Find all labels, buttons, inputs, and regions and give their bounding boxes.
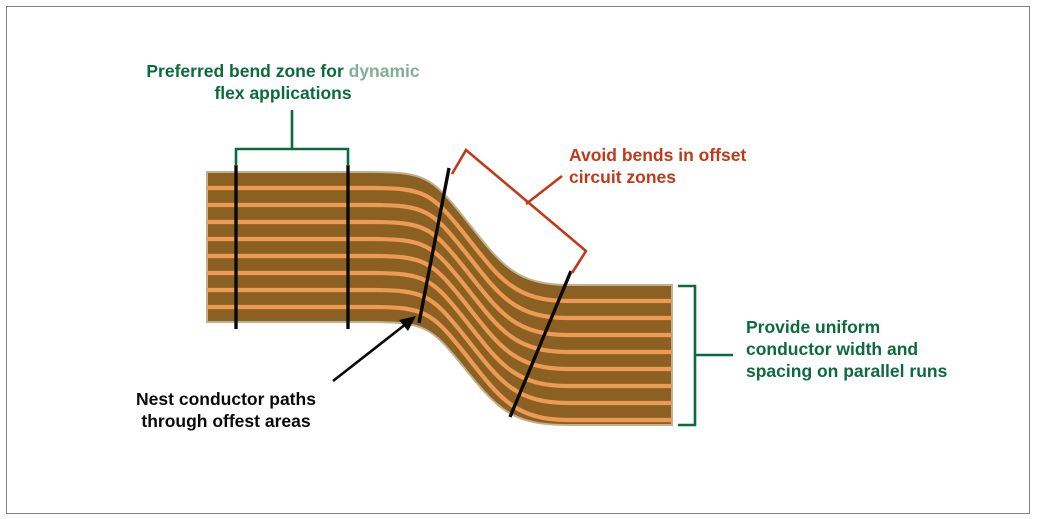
- bracket-path: [236, 149, 348, 166]
- label-preferred-bend-zone: Preferred bend zone for dynamicflex appl…: [118, 60, 448, 104]
- label-avoid-bends: Avoid bends in offsetcircuit zones: [569, 144, 746, 188]
- uniform-text-line1: Provide uniform: [746, 317, 880, 337]
- nest-text-line2: through offest areas: [141, 411, 310, 431]
- label-uniform-conductor: Provide uniformconductor width andspacin…: [746, 316, 947, 382]
- bracket-stem: [526, 176, 562, 204]
- diagram-canvas: Preferred bend zone for dynamicflex appl…: [0, 0, 1037, 519]
- uniform-text-line2: conductor width and: [746, 339, 918, 359]
- top-bracket-green: [236, 110, 348, 166]
- bend-zone-text-part1: Preferred bend zone for: [146, 61, 348, 81]
- label-nest-conductor-paths: Nest conductor pathsthrough offest areas: [112, 388, 340, 432]
- uniform-text-line3: spacing on parallel runs: [746, 361, 947, 381]
- avoid-text-line1: Avoid bends in offset: [569, 145, 746, 165]
- arrow-to-bend: [333, 316, 416, 381]
- right-bracket-green: [678, 286, 733, 425]
- bracket-path: [678, 286, 695, 425]
- avoid-text-line2: circuit zones: [569, 167, 676, 187]
- bend-zone-text-line2: flex applications: [214, 83, 351, 103]
- bend-zone-text-dynamic: dynamic: [349, 61, 420, 81]
- arrow-shaft: [333, 320, 411, 381]
- nest-text-line1: Nest conductor paths: [136, 389, 316, 409]
